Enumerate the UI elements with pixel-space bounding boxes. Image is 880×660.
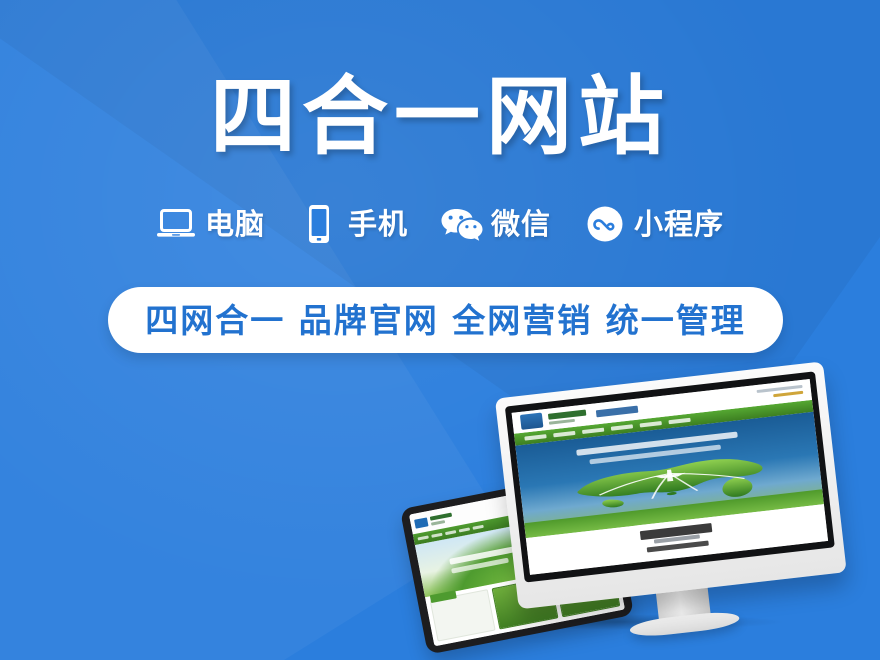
mini-program-icon	[585, 204, 625, 244]
monitor-screen	[512, 379, 829, 575]
monitor-site-logo-icon	[520, 413, 544, 430]
device-illustration	[396, 378, 880, 638]
monitor-body	[495, 361, 847, 609]
monitor-bezel	[505, 371, 835, 582]
feature-item-wechat[interactable]: 微信	[442, 204, 551, 244]
tablet-site-logo-subtext	[431, 520, 445, 526]
feature-item-mini-program[interactable]: 小程序	[585, 204, 724, 244]
feature-list: 电脑 手机	[0, 204, 880, 244]
feature-label-wechat: 微信	[491, 210, 551, 239]
desktop-monitor	[495, 359, 873, 649]
promo-banner: 四合一网站 电脑 手机	[0, 0, 880, 660]
tablet-site-logo-icon	[414, 517, 428, 528]
wechat-icon	[442, 204, 482, 244]
feature-label-computer: 电脑	[205, 210, 265, 239]
slogan-text: 四网合一 品牌官网 全网营销 统一管理	[145, 304, 745, 337]
laptop-icon	[156, 204, 196, 244]
slogan-pill[interactable]: 四网合一 品牌官网 全网营销 统一管理	[108, 287, 783, 353]
monitor-site-logo-text	[548, 410, 587, 425]
monitor-site-header-links	[757, 385, 804, 399]
feature-label-mobile: 手机	[348, 210, 408, 239]
mobile-phone-icon	[299, 204, 339, 244]
feature-item-computer[interactable]: 电脑	[156, 204, 265, 244]
tablet-site-logo-text	[430, 512, 452, 520]
feature-label-mini-program: 小程序	[634, 210, 724, 239]
feature-item-mobile[interactable]: 手机	[299, 204, 408, 244]
page-title: 四合一网站	[0, 72, 880, 163]
